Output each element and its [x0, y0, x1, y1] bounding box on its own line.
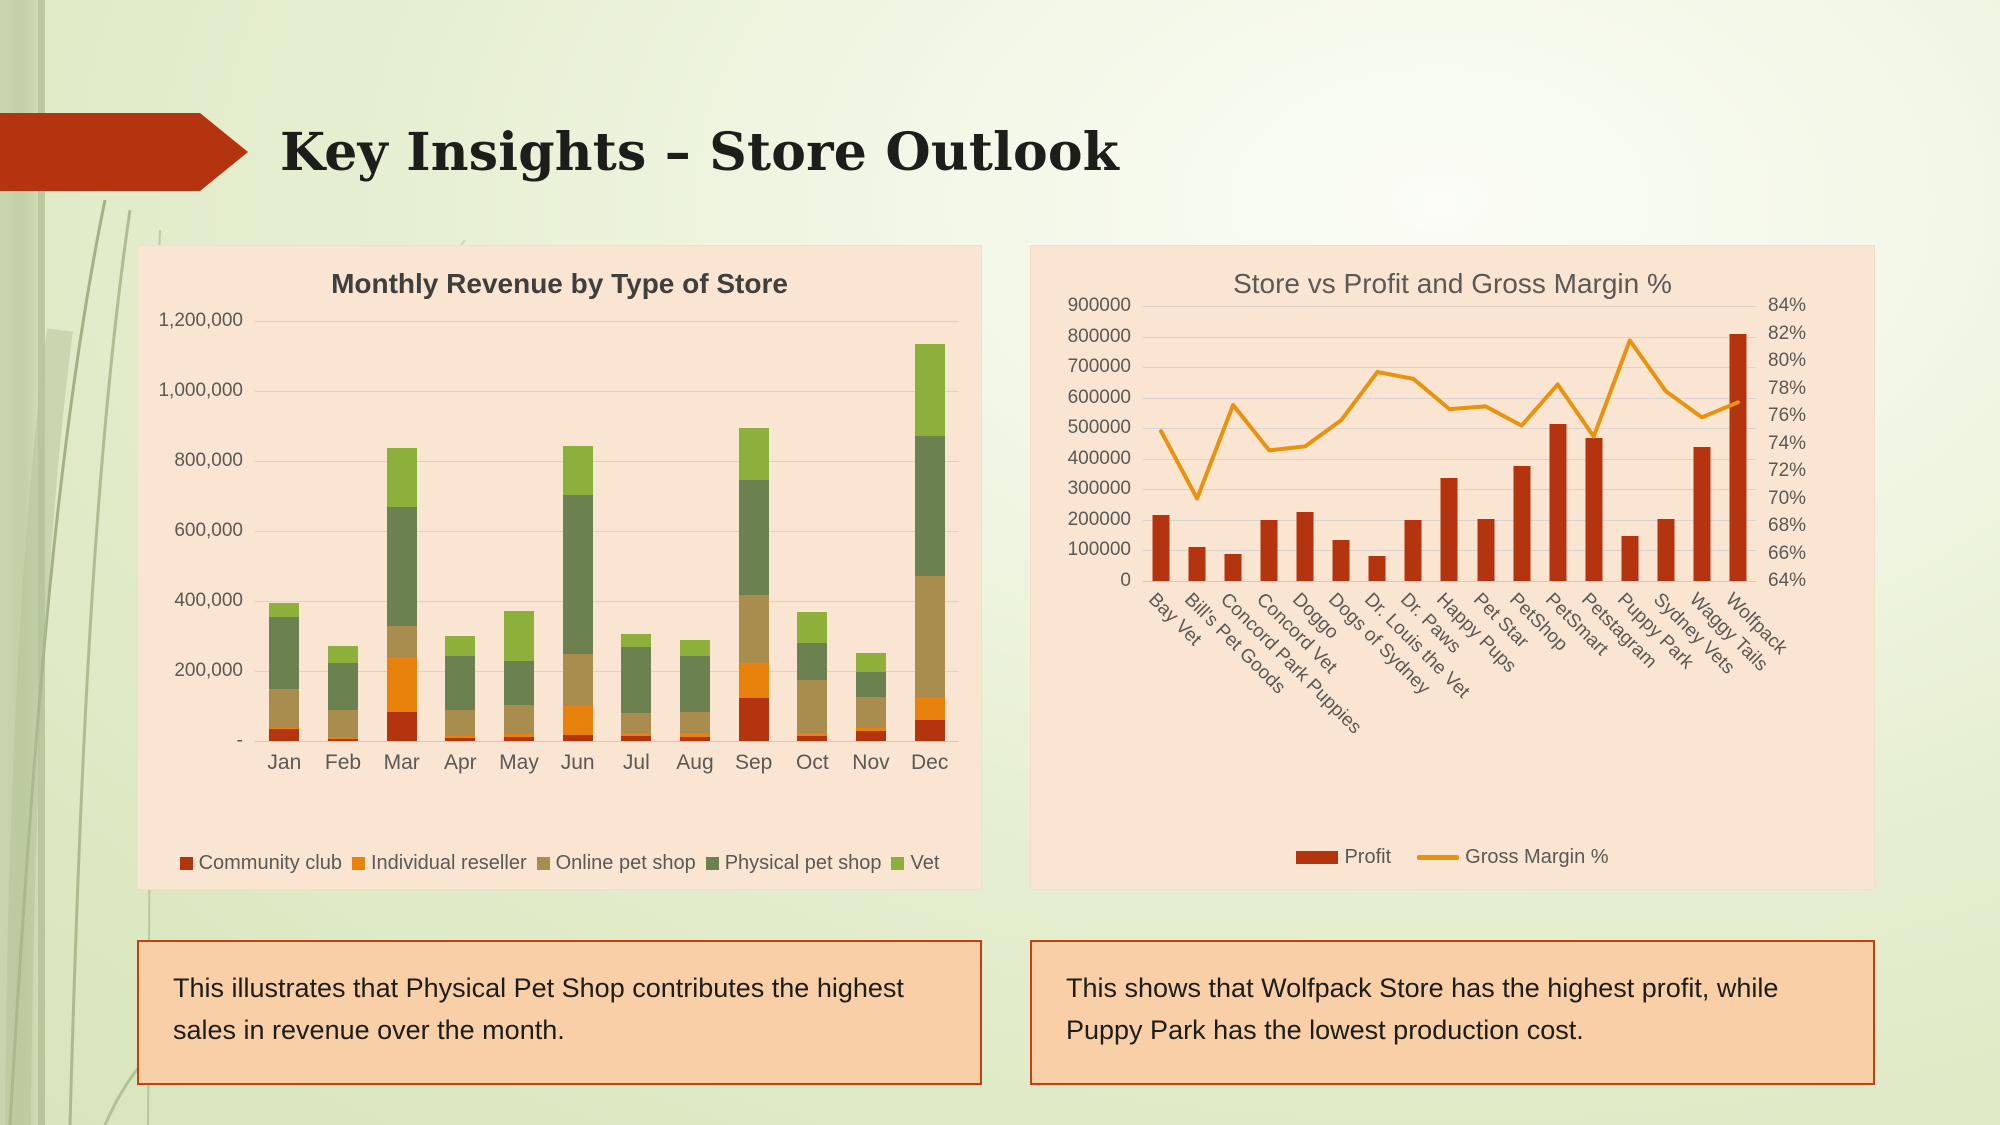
bar-segment — [739, 480, 769, 596]
legend-label: Individual reseller — [371, 852, 527, 875]
legend-item[interactable]: Profit — [1296, 846, 1391, 869]
y-axis-tick-label: 0 — [1120, 570, 1143, 592]
bar-segment — [504, 611, 534, 661]
bar-segment — [563, 706, 593, 735]
y-axis-tick-label: 800,000 — [174, 450, 255, 472]
page-title: Key Insights – Store Outlook — [280, 122, 1119, 183]
x-axis-tick-label: Jan — [267, 751, 301, 775]
gridline — [1143, 581, 1756, 582]
legend-item[interactable]: Individual reseller — [352, 852, 527, 875]
bar-segment — [680, 640, 710, 657]
bar-segment — [739, 698, 769, 741]
stacked-bar — [445, 636, 475, 741]
bar-slot: Mar — [372, 321, 431, 741]
legend-swatch — [891, 857, 904, 870]
y-axis-tick-label: 800000 — [1068, 326, 1143, 348]
y-axis-tick-label: 1,000,000 — [158, 380, 255, 402]
y-axis-tick-label: 600,000 — [174, 520, 255, 542]
bar-segment — [269, 689, 299, 728]
bar-segment — [563, 495, 593, 653]
bar-segment — [328, 739, 358, 741]
bar-segment — [915, 720, 945, 741]
chart-monthly-revenue: Monthly Revenue by Type of Store -200,00… — [137, 245, 982, 890]
bar-segment — [328, 646, 358, 664]
x-axis-tick-label: May — [499, 751, 539, 775]
bar-slot: May — [490, 321, 549, 741]
x-axis-tick-label: Apr — [444, 751, 477, 775]
legend-item[interactable]: Vet — [891, 852, 939, 875]
stacked-bar — [504, 611, 534, 741]
stacked-bar — [328, 646, 358, 741]
legend-label: Physical pet shop — [725, 852, 882, 875]
bar-segment — [915, 697, 945, 720]
callout-right: This shows that Wolfpack Store has the h… — [1030, 940, 1875, 1085]
legend-swatch — [706, 857, 719, 870]
y2-axis-tick-label: 74% — [1756, 433, 1806, 455]
chart-right-title: Store vs Profit and Gross Margin % — [1031, 246, 1874, 300]
bar-segment — [563, 446, 593, 496]
bar-slot: Jan — [255, 321, 314, 741]
chart-left-legend: Community clubIndividual resellerOnline … — [138, 852, 981, 875]
bar-segment — [504, 737, 534, 741]
y-axis-tick-label: 600000 — [1068, 387, 1143, 409]
bar-segment — [797, 612, 827, 643]
bar-segment — [387, 626, 417, 658]
stacked-bar — [856, 653, 886, 741]
bar-segment — [915, 344, 945, 436]
y-axis-tick-label: - — [237, 730, 255, 752]
chart-right-legend: ProfitGross Margin % — [1031, 846, 1874, 869]
gross-margin-line — [1143, 306, 1756, 581]
y-axis-tick-label: 300000 — [1068, 478, 1143, 500]
bar-segment — [445, 636, 475, 656]
legend-label: Profit — [1344, 846, 1391, 869]
y-axis-tick-label: 700000 — [1068, 356, 1143, 378]
y-axis-tick-label: 200,000 — [174, 660, 255, 682]
y-axis-tick-label: 500000 — [1068, 417, 1143, 439]
bar-slot: Dec — [900, 321, 959, 741]
legend-swatch — [352, 857, 365, 870]
bar-segment — [797, 680, 827, 733]
y-axis-tick-label: 1,200,000 — [158, 310, 255, 332]
bar-segment — [445, 738, 475, 741]
stacked-bar — [387, 448, 417, 741]
bar-segment — [856, 731, 886, 741]
bar-slot: Apr — [431, 321, 490, 741]
bar-segment — [856, 697, 886, 729]
stacked-bar — [739, 428, 769, 741]
bar-segment — [269, 617, 299, 689]
x-axis-tick-label: Feb — [325, 751, 361, 775]
legend-label: Online pet shop — [556, 852, 696, 875]
y2-axis-tick-label: 66% — [1756, 543, 1806, 565]
y-axis-tick-label: 200000 — [1068, 509, 1143, 531]
chart-store-profit-margin: Store vs Profit and Gross Margin % 01000… — [1030, 245, 1875, 890]
bar-segment — [680, 712, 710, 733]
y-axis-tick-label: 900000 — [1068, 295, 1143, 317]
bar-segment — [563, 735, 593, 741]
y2-axis-tick-label: 82% — [1756, 323, 1806, 345]
bar-segment — [269, 603, 299, 617]
bar-segment — [621, 634, 651, 646]
bar-segment — [680, 737, 710, 741]
bar-segment — [739, 595, 769, 663]
bar-segment — [621, 713, 651, 733]
bar-segment — [387, 657, 417, 712]
bar-slot: Feb — [314, 321, 373, 741]
bar-segment — [504, 705, 534, 734]
callout-left: This illustrates that Physical Pet Shop … — [137, 940, 982, 1085]
bar-slot: Oct — [783, 321, 842, 741]
y2-axis-tick-label: 68% — [1756, 515, 1806, 537]
legend-item[interactable]: Gross Margin % — [1417, 846, 1608, 869]
x-axis-tick-label: Dec — [911, 751, 948, 775]
bar-segment — [621, 647, 651, 714]
bar-segment — [563, 654, 593, 707]
bar-segment — [445, 656, 475, 710]
callout-left-text: This illustrates that Physical Pet Shop … — [173, 973, 904, 1045]
legend-label: Gross Margin % — [1465, 846, 1608, 869]
stacked-bar — [563, 446, 593, 741]
bar-segment — [797, 736, 827, 741]
bar-slot: Sep — [724, 321, 783, 741]
bar-segment — [504, 661, 534, 706]
bar-segment — [739, 663, 769, 698]
bar-segment — [915, 576, 945, 697]
bar-slot: Jun — [548, 321, 607, 741]
x-axis-tick-label: Jun — [561, 751, 595, 775]
bar-slot: Aug — [666, 321, 725, 741]
legend-swatch — [537, 857, 550, 870]
bar-segment — [739, 428, 769, 480]
legend-item[interactable]: Community club — [180, 852, 342, 875]
bar-segment — [856, 653, 886, 673]
bar-segment — [328, 663, 358, 709]
legend-item[interactable]: Physical pet shop — [706, 852, 882, 875]
bar-slot: Nov — [842, 321, 901, 741]
y2-axis-tick-label: 84% — [1756, 295, 1806, 317]
x-axis-tick-label: Oct — [796, 751, 829, 775]
bar-segment — [915, 436, 945, 576]
bar-segment — [387, 448, 417, 508]
y2-axis-tick-label: 80% — [1756, 350, 1806, 372]
y-axis-tick-label: 100000 — [1068, 539, 1143, 561]
legend-item[interactable]: Online pet shop — [537, 852, 696, 875]
stacked-bar — [621, 634, 651, 741]
bar-segment — [680, 656, 710, 712]
bar-segment — [328, 710, 358, 739]
bar-segment — [269, 729, 299, 741]
chart-left-title: Monthly Revenue by Type of Store — [138, 246, 981, 300]
gridline — [255, 741, 959, 742]
bar-segment — [621, 736, 651, 741]
y2-axis-tick-label: 76% — [1756, 405, 1806, 427]
x-axis-tick-label: Mar — [384, 751, 420, 775]
chart-left-plot-area: -200,000400,000600,000800,0001,000,0001,… — [255, 321, 959, 741]
legend-line-swatch — [1417, 855, 1459, 860]
bar-segment — [387, 712, 417, 741]
x-axis-tick-label: Nov — [852, 751, 889, 775]
y2-axis-tick-label: 78% — [1756, 378, 1806, 400]
bar-slot: Jul — [607, 321, 666, 741]
stacked-bar — [269, 603, 299, 741]
y-axis-tick-label: 400,000 — [174, 590, 255, 612]
stacked-bar — [680, 640, 710, 741]
y2-axis-tick-label: 72% — [1756, 460, 1806, 482]
bar-segment — [856, 672, 886, 697]
bar-segment — [445, 710, 475, 737]
stacked-bar — [797, 612, 827, 741]
y2-axis-tick-label: 64% — [1756, 570, 1806, 592]
chart-right-plot-area: 0100000200000300000400000500000600000700… — [1143, 306, 1756, 581]
title-flag-shape — [0, 113, 250, 191]
y-axis-tick-label: 400000 — [1068, 448, 1143, 470]
legend-swatch — [180, 857, 193, 870]
y2-axis-tick-label: 70% — [1756, 488, 1806, 510]
x-axis-tick-label: Sep — [735, 751, 772, 775]
legend-label: Community club — [199, 852, 342, 875]
bar-segment — [387, 507, 417, 625]
x-axis-tick-label: Jul — [623, 751, 650, 775]
x-axis-tick-label: Aug — [676, 751, 713, 775]
legend-swatch — [1296, 851, 1338, 864]
callout-right-text: This shows that Wolfpack Store has the h… — [1066, 973, 1778, 1045]
legend-label: Vet — [910, 852, 939, 875]
stacked-bar — [915, 344, 945, 741]
bar-segment — [797, 643, 827, 680]
